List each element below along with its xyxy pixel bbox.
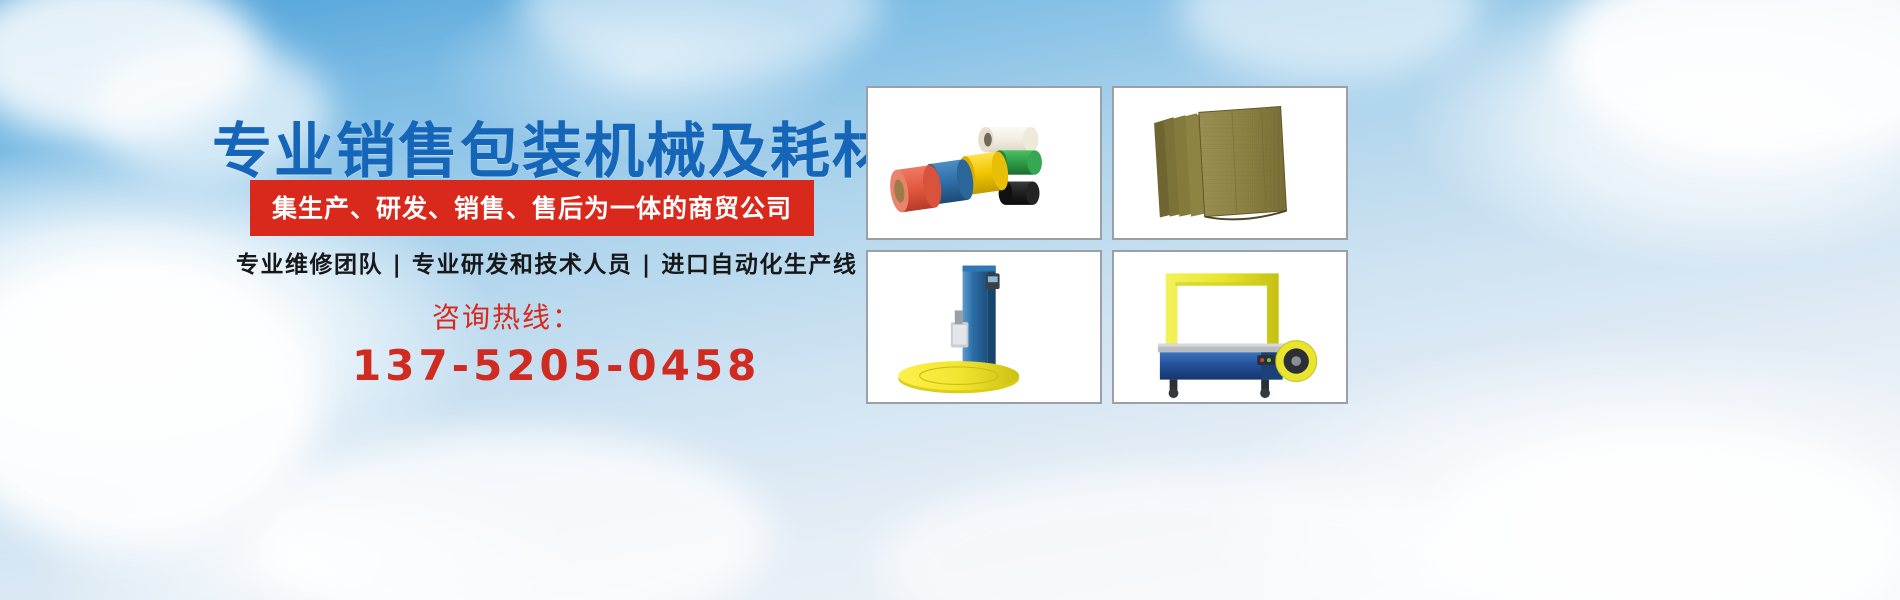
product-photo-woven-bags[interactable]: 编织袋 [1112,86,1348,240]
banner-subline: 专业维修团队 | 专业研发和技术人员 | 进口自动化生产线 [236,245,857,279]
cloud-shape [1180,0,1480,80]
cloud-shape [1560,0,1900,160]
strapping-machine-illustration [1114,252,1346,402]
promotional-banner: 专业销售包装机械及耗材 集生产、研发、销售、售后为一体的商贸公司 专业维修团队 … [0,0,1900,600]
product-photo-grid: 彩色打包带卷 [866,86,1340,404]
packing-straps-illustration [868,88,1100,238]
cloud-shape [880,470,1480,600]
cloud-shape [1430,430,1900,600]
tagline-badge: 集生产、研发、销售、售后为一体的商贸公司 [250,180,814,236]
hotline-label: 咨询热线： [432,296,582,336]
product-photo-stretch-wrapping-machine[interactable]: 缠绕膜包装机 [866,250,1102,404]
stretch-wrapping-machine-illustration [868,252,1100,402]
hotline-number[interactable]: 137-5205-0458 [352,341,760,390]
tagline-badge-text: 集生产、研发、销售、售后为一体的商贸公司 [272,194,792,223]
banner-copy-block: 专业销售包装机械及耗材 集生产、研发、销售、售后为一体的商贸公司 专业维修团队 … [0,0,870,600]
woven-bags-illustration [1114,88,1346,238]
product-photo-packing-straps[interactable]: 彩色打包带卷 [866,86,1102,240]
product-photo-strapping-machine[interactable]: 自动打包机 [1112,250,1348,404]
banner-headline: 专业销售包装机械及耗材 [212,103,894,190]
